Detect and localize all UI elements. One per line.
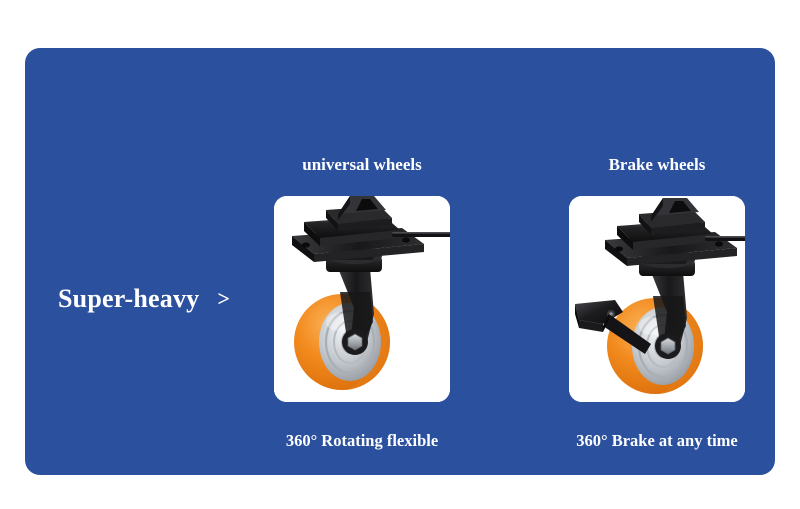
product-column-brake: Brake wheels xyxy=(562,156,752,450)
promo-banner: Super-heavy > universal wheels xyxy=(25,48,775,475)
headline-label: Super-heavy xyxy=(58,286,199,312)
column-caption-universal: 360° Rotating flexible xyxy=(267,433,457,450)
photo-clip-universal xyxy=(274,196,450,402)
brake-caster-wheel-photo xyxy=(569,196,745,402)
universal-caster-wheel-photo xyxy=(274,196,450,402)
photo-card-brake[interactable] xyxy=(569,196,745,402)
column-title-universal: universal wheels xyxy=(267,156,457,173)
photo-card-universal[interactable] xyxy=(274,196,450,402)
product-column-universal: universal wheels xyxy=(267,156,457,450)
chevron-right-icon: > xyxy=(217,288,230,310)
column-caption-brake: 360° Brake at any time xyxy=(562,433,752,450)
photo-clip-brake xyxy=(569,196,745,402)
headline-group: Super-heavy > xyxy=(58,286,230,312)
column-title-brake: Brake wheels xyxy=(562,156,752,173)
